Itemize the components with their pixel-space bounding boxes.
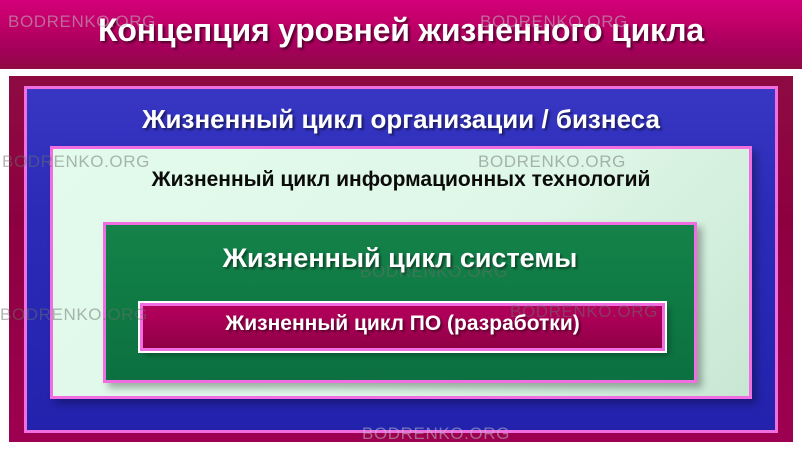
- lifecycle-label-software: Жизненный цикл ПО (разработки): [140, 312, 665, 336]
- lifecycle-label-organization: Жизненный цикл организации / бизнеса: [24, 104, 778, 135]
- lifecycle-label-system: Жизненный цикл системы: [103, 243, 697, 274]
- slide-canvas: Концепция уровней жизненного цикла Жизне…: [0, 0, 802, 451]
- page-title: Концепция уровней жизненного цикла: [0, 12, 802, 49]
- lifecycle-label-information-technology: Жизненный цикл информационных технологий: [50, 168, 752, 192]
